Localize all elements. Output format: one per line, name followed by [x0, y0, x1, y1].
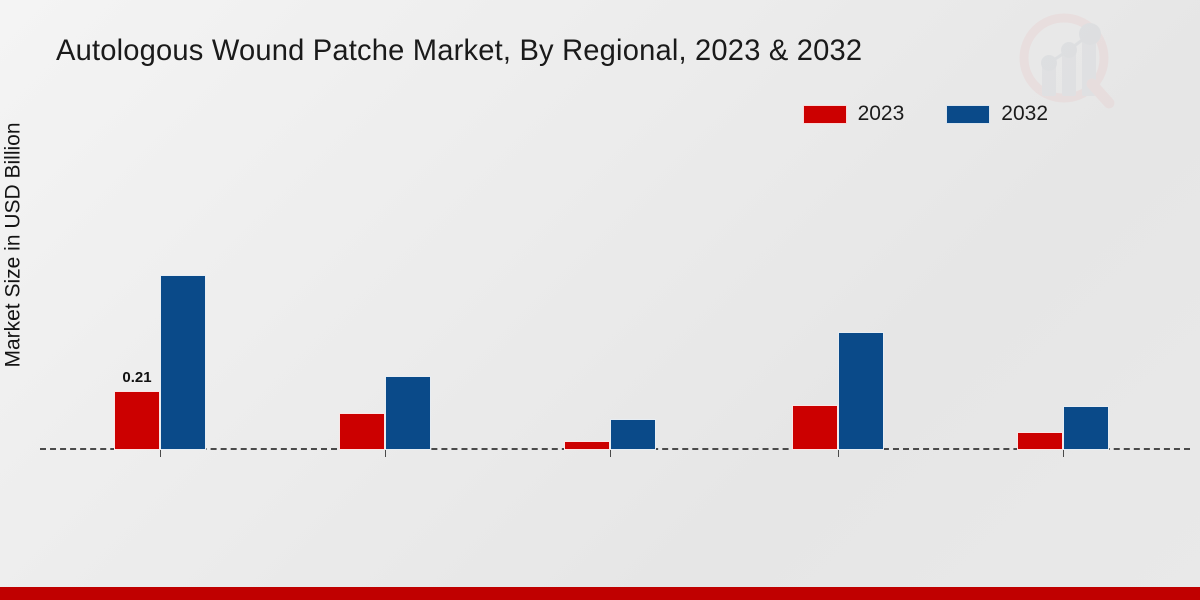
x-label-wrap-europe: EUROPE — [325, 150, 445, 600]
x-label-wrap-asia-pacific: ASIA PACIFIC — [778, 150, 898, 600]
x-label-wrap-south-america: SOUTH AMERICA — [550, 150, 670, 600]
y-axis-title-text: Market Size in USD Billion — [2, 122, 26, 367]
legend-item-2032[interactable]: 2032 — [946, 102, 1048, 126]
x-label-wrap-north-america: NORTH AMERICA — [100, 150, 220, 600]
watermark-logo-icon — [1012, 8, 1122, 112]
legend-label-2032: 2032 — [1001, 102, 1048, 126]
y-axis-title: Market Size in USD Billion — [0, 0, 31, 600]
chart-page: Autologous Wound Patche Market, By Regio… — [0, 0, 1200, 600]
x-label-wrap-middle-east-and-africa: MIDDLE EAST AND AFRICA — [1003, 150, 1123, 600]
legend-item-2023[interactable]: 2023 — [803, 102, 905, 126]
legend-swatch-2023 — [803, 105, 847, 124]
legend-swatch-2032 — [946, 105, 990, 124]
footer-accent-bar — [0, 587, 1200, 600]
chart-legend: 2023 2032 — [803, 102, 1048, 126]
chart-title: Autologous Wound Patche Market, By Regio… — [56, 34, 862, 68]
legend-label-2023: 2023 — [858, 102, 905, 126]
plot-area: 0.21 NORTH AMERICA EUROPE — [40, 150, 1190, 450]
